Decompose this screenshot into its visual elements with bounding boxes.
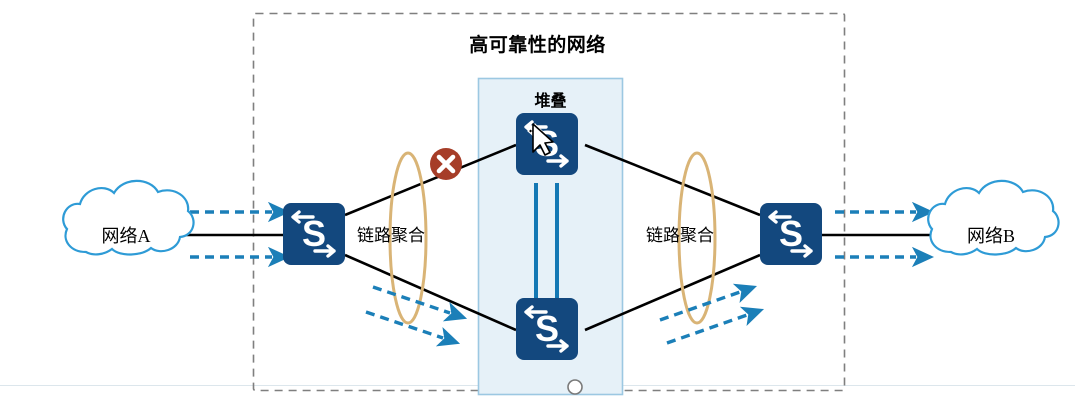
page-title: 高可靠性的网络 [0, 30, 1075, 57]
switch-right[interactable]: S [760, 203, 822, 265]
flow-arrow-lag-left-2 [366, 312, 443, 338]
link-failure-x[interactable] [430, 148, 462, 180]
flow-arrow-lag-right-2 [667, 315, 747, 343]
flow-arrow-lag-left-1 [373, 287, 450, 313]
flow-arrow-lag-right-1 [660, 292, 740, 320]
lag-label-right: 链路聚合 [646, 221, 714, 246]
switch-right-glyph: S [779, 213, 803, 254]
cloud-b-label: 网络B [927, 222, 1055, 248]
cloud-a-label: 网络A [62, 222, 190, 248]
stack-group-label: 堆叠 [478, 87, 623, 111]
switch-stack-top[interactable]: S [516, 113, 578, 175]
switch-left[interactable]: S [283, 203, 345, 265]
switch-stack-bottom-glyph: S [535, 308, 559, 349]
switch-stack-bottom[interactable]: S [516, 298, 578, 360]
diagram-canvas: S S S S [0, 0, 1075, 401]
switch-left-glyph: S [302, 213, 326, 254]
lag-label-left: 链路聚合 [357, 221, 425, 246]
topology-svg: S S S S [0, 0, 1075, 401]
rotate-handle-icon[interactable] [568, 380, 582, 394]
